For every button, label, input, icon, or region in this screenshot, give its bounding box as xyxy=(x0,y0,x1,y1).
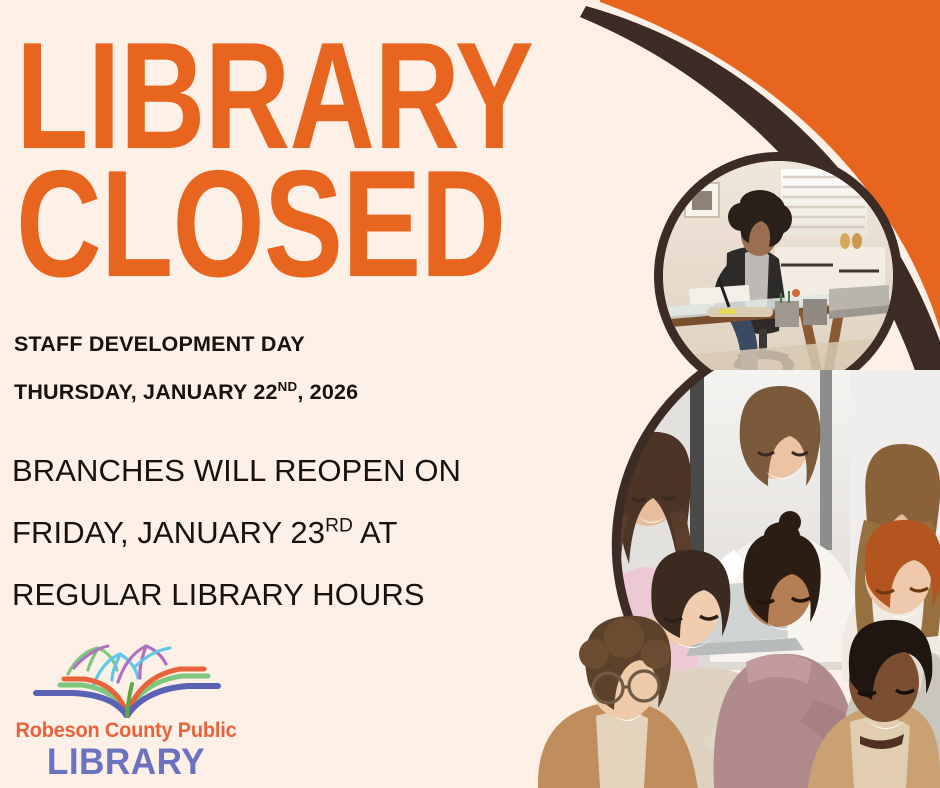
reopen-line-1: BRANCHES WILL REOPEN ON xyxy=(12,455,552,486)
photo-woman-at-desk xyxy=(654,152,902,400)
closed-date-line: THURSDAY, JANUARY 22ND, 2026 xyxy=(14,382,534,404)
reopen-info-block: BRANCHES WILL REOPEN ON FRIDAY, JANUARY … xyxy=(12,455,552,610)
logo-bottom-text: LIBRARY xyxy=(12,743,240,780)
photo-team-group-illustration xyxy=(520,370,940,788)
closed-date-ordinal: ND xyxy=(278,378,298,393)
open-book-with-birds-icon xyxy=(32,636,222,718)
staff-development-day-line: STAFF DEVELOPMENT DAY xyxy=(14,334,534,356)
closed-date-prefix: THURSDAY, JANUARY 22 xyxy=(14,380,278,404)
reopen-line-2: FRIDAY, JANUARY 23RD AT xyxy=(12,517,552,548)
reopen-line-3: REGULAR LIBRARY HOURS xyxy=(12,579,552,610)
reopen-date-ordinal: RD xyxy=(325,516,353,537)
logo-top-text: Robeson County Public xyxy=(12,720,240,741)
library-closed-poster: LIBRARY CLOSED STAFF DEVELOPMENT DAY THU… xyxy=(0,0,940,788)
logo-wordmark: Robeson County Public LIBRARY xyxy=(6,720,246,780)
photo-team-group xyxy=(520,370,940,788)
closed-date-suffix: , 2026 xyxy=(297,380,358,404)
reopen-date-prefix: FRIDAY, JANUARY 23 xyxy=(12,515,325,550)
library-logo: Robeson County Public LIBRARY xyxy=(6,636,246,784)
headline: LIBRARY CLOSED xyxy=(16,24,576,297)
photo-woman-at-desk-illustration xyxy=(663,161,893,391)
reopen-date-suffix: AT xyxy=(353,515,398,550)
details-bold-block: STAFF DEVELOPMENT DAY THURSDAY, JANUARY … xyxy=(14,334,534,403)
headline-line-closed: CLOSED xyxy=(16,152,453,296)
